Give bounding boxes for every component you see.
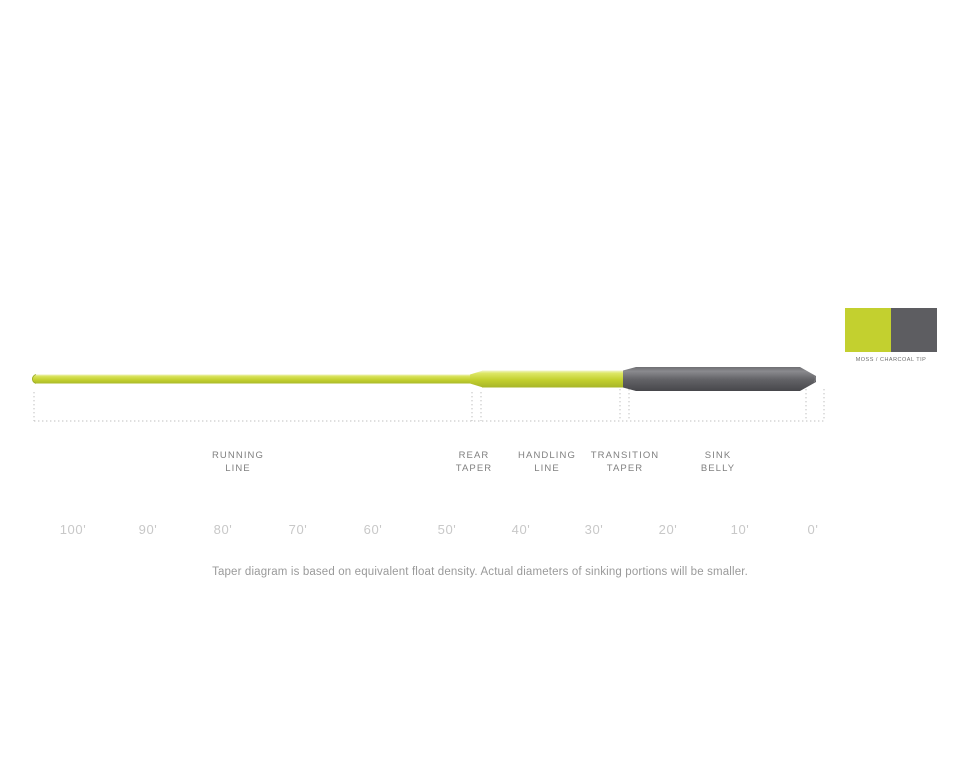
axis-tick-100: 100' <box>60 522 87 537</box>
section-label-line1: TRANSITION <box>591 450 660 461</box>
section-label-line1: REAR <box>459 450 490 461</box>
handling-line-segment <box>482 371 624 388</box>
axis-tick-80: 80' <box>214 522 233 537</box>
axis-tick-60: 60' <box>364 522 383 537</box>
running-line-segment <box>32 375 470 384</box>
sink-tip-loop <box>814 376 815 382</box>
axis-tick-20: 20' <box>659 522 678 537</box>
axis-tick-30: 30' <box>585 522 604 537</box>
legend-caption: MOSS / CHARCOAL TIP <box>845 357 937 363</box>
legend-swatch-moss <box>845 308 891 352</box>
section-label-line2: LINE <box>212 463 264 476</box>
section-label-rear-taper: REAR TAPER <box>456 450 492 475</box>
taper-footnote: Taper diagram is based on equivalent flo… <box>0 566 960 578</box>
section-label-line2: TAPER <box>591 463 660 476</box>
color-legend: MOSS / CHARCOAL TIP <box>845 308 937 363</box>
axis-tick-0: 0' <box>808 522 819 537</box>
section-label-line2: BELLY <box>701 463 735 476</box>
section-label-line1: RUNNING <box>212 450 264 461</box>
axis-tick-10: 10' <box>731 522 750 537</box>
sink-belly-segment <box>623 367 816 391</box>
running-line-tip-cap <box>32 375 36 384</box>
section-label-running-line: RUNNING LINE <box>212 450 264 475</box>
measurement-guides <box>34 389 826 421</box>
rear-taper-segment <box>470 371 483 388</box>
taper-diagram: RUNNING LINE REAR TAPER HANDLING LINE TR… <box>0 0 960 768</box>
section-label-transition-taper: TRANSITION TAPER <box>591 450 660 475</box>
section-label-line1: HANDLING <box>518 450 576 461</box>
taper-line-drawing <box>0 0 960 768</box>
section-label-line2: LINE <box>518 463 576 476</box>
legend-swatch-group <box>845 308 937 352</box>
axis-tick-40: 40' <box>512 522 531 537</box>
axis-tick-50: 50' <box>438 522 457 537</box>
axis-tick-70: 70' <box>289 522 308 537</box>
section-label-line1: SINK <box>705 450 732 461</box>
section-label-handling-line: HANDLING LINE <box>518 450 576 475</box>
section-label-sink-belly: SINK BELLY <box>701 450 735 475</box>
axis-tick-90: 90' <box>139 522 158 537</box>
legend-swatch-charcoal <box>891 308 937 352</box>
section-label-line2: TAPER <box>456 463 492 476</box>
